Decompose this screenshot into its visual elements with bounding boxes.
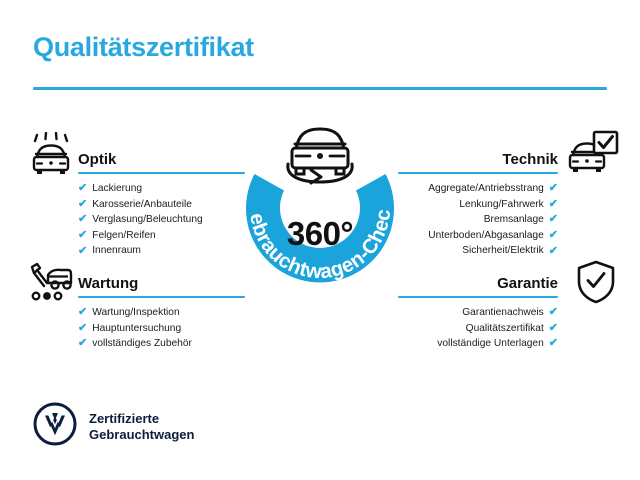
section-divider (398, 296, 558, 298)
section-title: Garantie (497, 275, 558, 292)
list-item-label: Qualitätszertifikat (466, 321, 544, 337)
vw-brand-line2: Gebrauchtwagen (89, 427, 194, 443)
section-header: Wartung (78, 264, 245, 298)
list-item-label: Wartung/Inspektion (92, 305, 179, 321)
title-divider (33, 87, 607, 90)
section-items: ✔Garantienachweis ✔Qualitätszertifikat ✔… (398, 305, 558, 352)
check-icon: ✔ (549, 307, 558, 318)
section-optik: Optik ✔Lackierung ✔Karosserie/Anbauteile… (78, 140, 245, 259)
car-rotation-360-icon (278, 114, 362, 186)
shield-check-icon (574, 259, 618, 310)
check-icon: ✔ (549, 323, 558, 334)
check-icon: ✔ (78, 338, 87, 349)
check-icon: ✔ (549, 199, 558, 210)
check-icon: ✔ (549, 338, 558, 349)
section-items: ✔Wartung/Inspektion ✔Hauptuntersuchung ✔… (78, 305, 245, 352)
vw-brand-text: Zertifizierte Gebrauchtwagen (89, 411, 194, 443)
car-front-checkbox-icon (568, 130, 620, 183)
list-item-label: Garantienachweis (462, 305, 544, 321)
section-title: Optik (78, 151, 116, 168)
list-item: ✔Lenkung/Fahrwerk (398, 197, 558, 213)
list-item-label: vollständiges Zubehör (92, 336, 192, 352)
badge-center-label: 360° (228, 215, 412, 253)
vw-brand-line1: Zertifizierte (89, 411, 194, 427)
list-item: ✔vollständige Unterlagen (398, 336, 558, 352)
certificate-page: Qualitätszertifikat (0, 0, 640, 480)
page-title: Qualitätszertifikat (33, 32, 254, 63)
check-icon: ✔ (78, 230, 87, 241)
check-icon: ✔ (78, 199, 87, 210)
list-item: ✔Qualitätszertifikat (398, 321, 558, 337)
list-item-label: Innenraum (92, 243, 141, 259)
list-item-label: Bremsanlage (484, 212, 544, 228)
list-item: ✔Unterboden/Abgasanlage (398, 228, 558, 244)
list-item-label: Lackierung (92, 181, 142, 197)
check-icon: ✔ (78, 246, 87, 257)
section-garantie: Garantie ✔Garantienachweis ✔Qualitätszer… (398, 264, 558, 352)
section-divider (398, 172, 558, 174)
check-icon: ✔ (549, 214, 558, 225)
badge-360-gebrauchtwagen-check: Gebrauchtwagen-Check 360° (228, 116, 412, 300)
list-item: ✔Verglasung/Beleuchtung (78, 212, 245, 228)
section-title: Wartung (78, 275, 138, 292)
check-icon: ✔ (78, 307, 87, 318)
section-divider (78, 296, 245, 298)
list-item-label: Karosserie/Anbauteile (92, 197, 192, 213)
list-item-label: Felgen/Reifen (92, 228, 155, 244)
list-item: ✔Bremsanlage (398, 212, 558, 228)
check-icon: ✔ (78, 183, 87, 194)
check-icon: ✔ (78, 323, 87, 334)
section-items: ✔Aggregate/Antriebsstrang ✔Lenkung/Fahrw… (398, 181, 558, 259)
section-technik: Technik ✔Aggregate/Antriebsstrang ✔Lenku… (398, 140, 558, 259)
list-item-label: Verglasung/Beleuchtung (92, 212, 202, 228)
wrench-car-service-icon (24, 259, 74, 310)
vw-logo-icon (33, 402, 77, 451)
list-item: ✔Hauptuntersuchung (78, 321, 245, 337)
section-title: Technik (502, 151, 558, 168)
section-items: ✔Lackierung ✔Karosserie/Anbauteile ✔Verg… (78, 181, 245, 259)
list-item: ✔Felgen/Reifen (78, 228, 245, 244)
list-item-label: vollständige Unterlagen (437, 336, 543, 352)
check-icon: ✔ (78, 214, 87, 225)
list-item-label: Unterboden/Abgasanlage (428, 228, 544, 244)
check-icon: ✔ (549, 246, 558, 257)
car-front-shine-icon (26, 132, 76, 183)
list-item: ✔Karosserie/Anbauteile (78, 197, 245, 213)
list-item: ✔Wartung/Inspektion (78, 305, 245, 321)
section-header: Optik (78, 140, 245, 174)
section-header: Garantie (398, 264, 558, 298)
list-item: ✔vollständiges Zubehör (78, 336, 245, 352)
list-item-label: Hauptuntersuchung (92, 321, 181, 337)
list-item-label: Lenkung/Fahrwerk (459, 197, 543, 213)
check-icon: ✔ (549, 183, 558, 194)
list-item-label: Sicherheit/Elektrik (462, 243, 544, 259)
section-header: Technik (398, 140, 558, 174)
list-item: ✔Lackierung (78, 181, 245, 197)
list-item: ✔Aggregate/Antriebsstrang (398, 181, 558, 197)
list-item-label: Aggregate/Antriebsstrang (428, 181, 544, 197)
section-divider (78, 172, 245, 174)
section-wartung: Wartung ✔Wartung/Inspektion ✔Hauptunters… (78, 264, 245, 352)
list-item: ✔Garantienachweis (398, 305, 558, 321)
check-icon: ✔ (549, 230, 558, 241)
footer-brand: Zertifizierte Gebrauchtwagen (33, 402, 194, 451)
list-item: ✔Innenraum (78, 243, 245, 259)
list-item: ✔Sicherheit/Elektrik (398, 243, 558, 259)
